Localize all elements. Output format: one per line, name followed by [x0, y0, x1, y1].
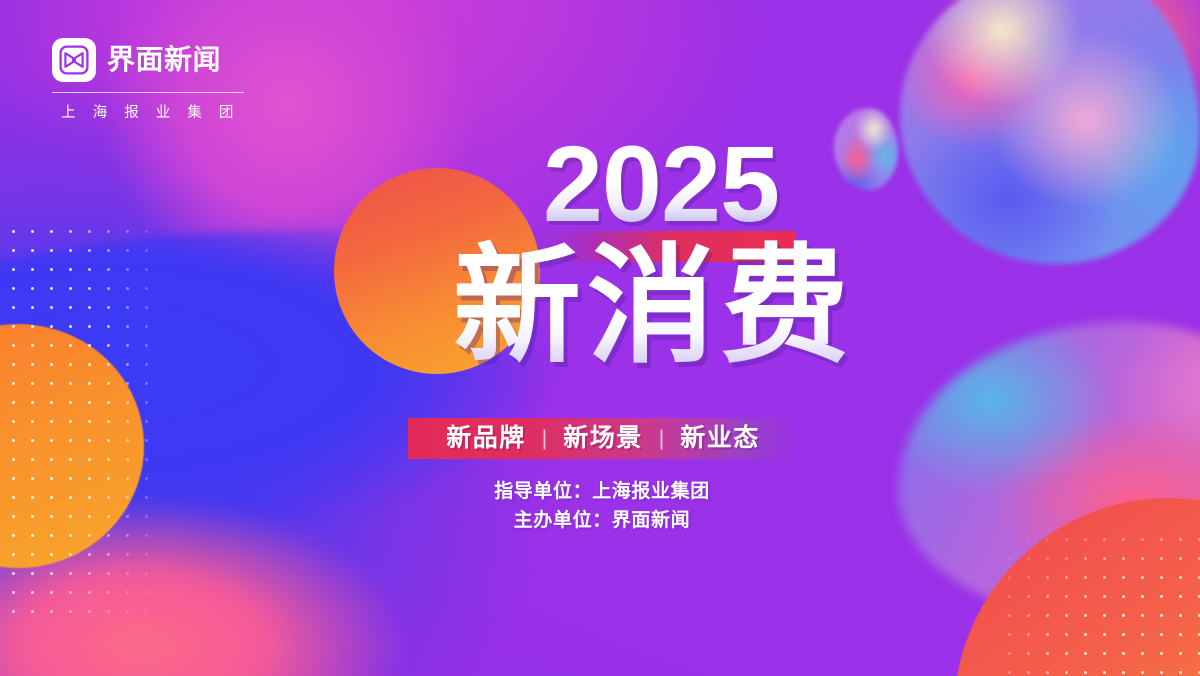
credit-line-guidance: 指导单位：上海报业集团: [4, 478, 1200, 507]
orange-circle-behind-title: [334, 168, 540, 374]
brand-logo[interactable]: 界面新闻 上 海 报 业 集 团: [52, 38, 244, 122]
poster-root: 界面新闻 上 海 报 业 集 团 2025 新消费 新品牌 | 新场景 | 新业…: [0, 0, 1200, 676]
subtitle-divider-0: |: [526, 428, 563, 449]
subtitle-bar: 新品牌 | 新场景 | 新业态: [408, 418, 798, 459]
logo-name: 界面新闻: [107, 46, 221, 74]
logo-divider: [52, 92, 244, 93]
subtitle-item-2: 新业态: [680, 426, 760, 451]
subtitle-item-0: 新品牌: [446, 426, 526, 451]
logo-row: 界面新闻: [52, 38, 244, 82]
subtitle-item-1: 新场景: [563, 426, 643, 451]
credit-line-organizer: 主办单位：界面新闻: [4, 507, 1200, 536]
jiemian-bowtie-logo-icon: [52, 38, 96, 82]
credits-block: 指导单位：上海报业集团 主办单位：界面新闻: [0, 478, 1200, 536]
logo-parent-org: 上 海 报 业 集 团: [52, 101, 244, 122]
subtitle-divider-1: |: [643, 428, 680, 449]
